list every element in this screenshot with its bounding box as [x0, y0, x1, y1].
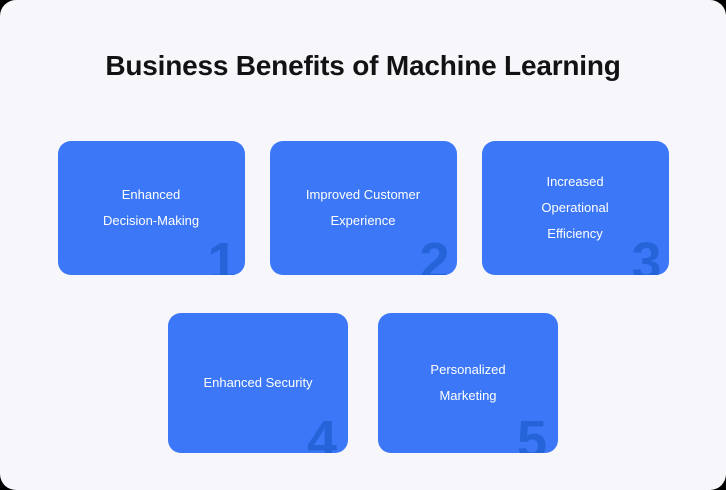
benefit-card-2-label: Improved CustomerExperience	[290, 182, 436, 234]
benefit-card-5-label: PersonalizedMarketing	[414, 357, 521, 409]
benefit-card-4-label: Enhanced Security	[187, 370, 328, 396]
benefit-card-row-bottom: Enhanced Security 4 PersonalizedMarketin…	[0, 313, 726, 453]
benefit-card-3-label: IncreasedOperationalEfficiency	[525, 169, 624, 247]
benefit-card-5[interactable]: PersonalizedMarketing 5	[378, 313, 558, 453]
infographic-canvas: Business Benefits of Machine Learning En…	[0, 0, 726, 490]
benefit-card-1-number: 1	[207, 235, 236, 275]
benefit-card-1[interactable]: EnhancedDecision-Making 1	[58, 141, 245, 275]
benefit-card-4-number: 4	[307, 413, 336, 453]
benefit-card-5-number: 5	[517, 413, 546, 453]
benefit-card-4[interactable]: Enhanced Security 4	[168, 313, 348, 453]
benefit-card-3[interactable]: IncreasedOperationalEfficiency 3	[482, 141, 669, 275]
benefit-card-1-label: EnhancedDecision-Making	[87, 182, 215, 234]
benefit-card-2-number: 2	[419, 235, 448, 275]
page-title: Business Benefits of Machine Learning	[0, 48, 726, 84]
benefit-card-row-top: EnhancedDecision-Making 1 Improved Custo…	[0, 141, 726, 275]
benefit-card-2[interactable]: Improved CustomerExperience 2	[270, 141, 457, 275]
benefit-card-3-number: 3	[631, 235, 660, 275]
